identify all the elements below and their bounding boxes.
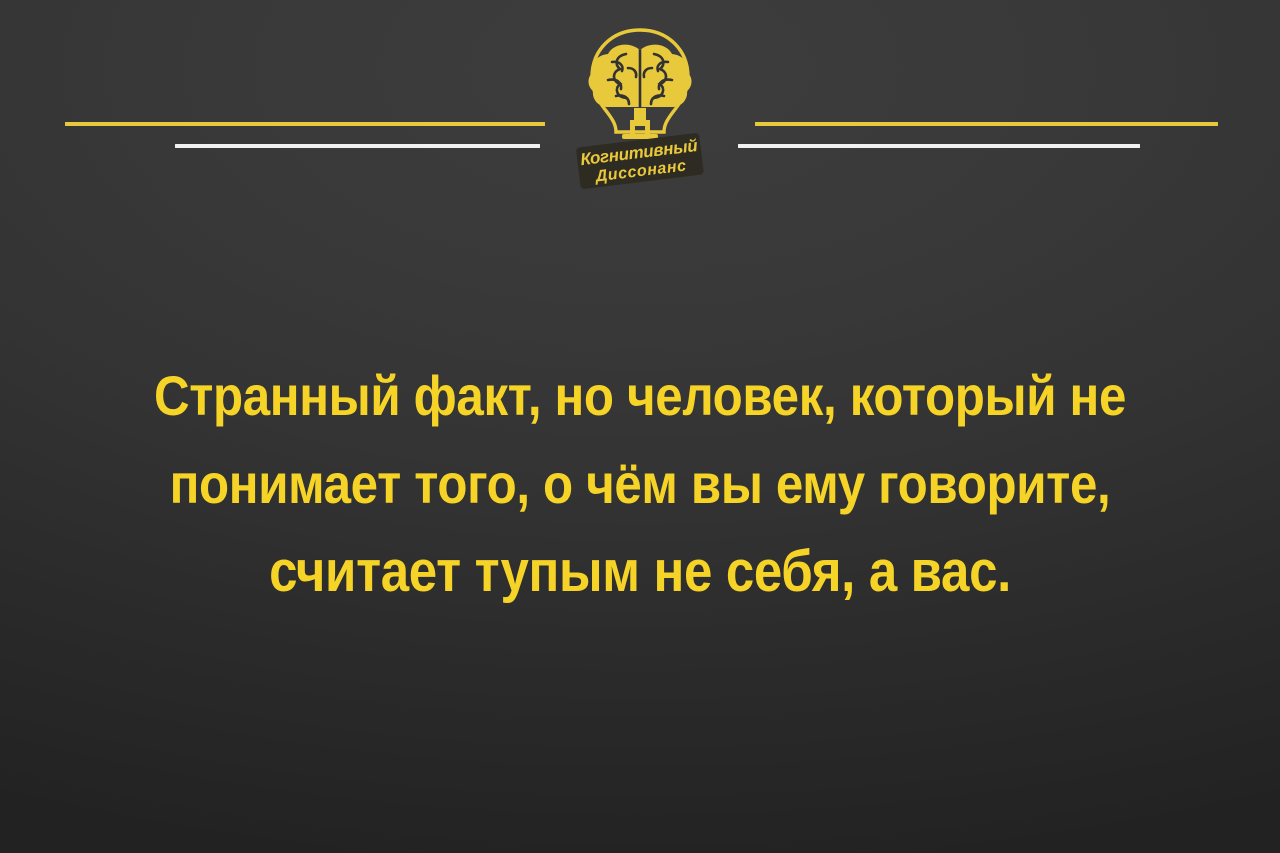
quote-line-2: понимает того, о чём вы ему говорите, <box>77 440 1203 528</box>
quote-card: Когнитивный Диссонанс Странный факт, но … <box>0 0 1280 853</box>
rule-left-yellow <box>65 122 545 126</box>
quote-line-1: Странный факт, но человек, который не <box>77 352 1203 440</box>
decorative-rules-left <box>0 0 560 210</box>
rule-right-yellow <box>755 122 1218 126</box>
bulb-filament <box>630 108 650 134</box>
decorative-rules-right <box>720 0 1280 210</box>
lightbulb-brain-logo: Когнитивный Диссонанс <box>560 22 720 192</box>
quote-text-block: Странный факт, но человек, который не по… <box>0 352 1280 616</box>
rule-left-white <box>175 144 540 148</box>
quote-line-3: считает тупым не себя, а вас. <box>77 528 1203 616</box>
card-header: Когнитивный Диссонанс <box>0 0 1280 210</box>
rule-right-white <box>738 144 1140 148</box>
logo-banner: Когнитивный Диссонанс <box>576 133 704 190</box>
brain-shape <box>589 45 692 108</box>
